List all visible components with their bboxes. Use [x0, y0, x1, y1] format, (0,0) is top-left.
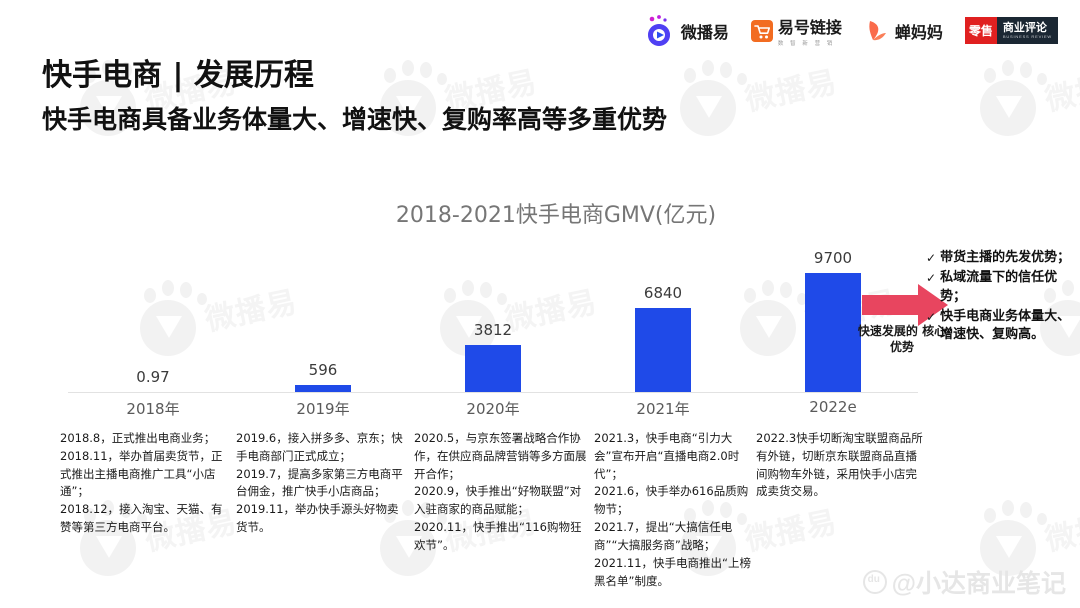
- chanmama-mark-icon: [864, 18, 890, 44]
- yihaolianjie-logo-sub: 数 智 新 营 销: [778, 39, 835, 47]
- timeline-note-columns: 2018.8，正式推出电商业务； 2018.11，举办首届卖货节，正式推出主播电…: [0, 430, 1080, 600]
- chanmama-logo: 蝉妈妈: [864, 18, 943, 44]
- weiboyi-paw-icon: [680, 60, 754, 134]
- x-axis-tick-label: 2022e: [748, 398, 918, 422]
- weiboyi-watermark: 微播易: [980, 60, 1054, 134]
- weiboyi-watermark: 微播易: [680, 60, 754, 134]
- x-axis-tick-label: 2021年: [578, 398, 748, 422]
- x-axis-labels: 2018年2019年2020年2021年2022e: [68, 398, 918, 422]
- bar: [295, 385, 351, 392]
- advantage-bullet-item: ✓带货主播的先发优势；: [926, 249, 1074, 268]
- timeline-note: 2018.8，正式推出电商业务； 2018.11，举办首届卖货节，正式推出主播电…: [60, 430, 232, 537]
- advantage-bullet-item: ✓私域流量下的信任优势；: [926, 269, 1074, 307]
- chart-title: 2018-2021快手电商GMV(亿元): [0, 197, 1080, 229]
- timeline-note: 2019.6，接入拼多多、京东；快手电商部门正式成立； 2019.7，提高多家第…: [236, 430, 408, 537]
- x-axis-tick-label: 2018年: [68, 398, 238, 422]
- yihaolianjie-logo-text: 易号链接: [778, 14, 842, 38]
- bar-value-label: 9700: [814, 249, 852, 267]
- bar-group: 3812: [408, 235, 578, 392]
- bar-group: 6840: [578, 235, 748, 392]
- check-icon: ✓: [926, 249, 936, 267]
- x-axis-tick-label: 2019年: [238, 398, 408, 422]
- timeline-note: 2020.5，与京东签署战略合作协作，在供应商品牌营销等多方面展开合作； 202…: [414, 430, 590, 555]
- timeline-note: 2021.3，快手电商“引力大会”宣布开启“直播电商2.0时代”； 2021.6…: [594, 430, 758, 590]
- advantage-bullet-text: 私域流量下的信任优势；: [940, 269, 1074, 307]
- bar-value-label: 6840: [644, 284, 682, 302]
- bar-value-label: 3812: [474, 321, 512, 339]
- yihaolianjie-logo: 易号链接 数 智 新 营 销: [751, 14, 842, 47]
- weiboyi-logo-text: 微播易: [681, 19, 729, 43]
- bar-group: 596: [238, 235, 408, 392]
- partner-logo-strip: 微播易 易号链接 数 智 新 营 销 蝉妈妈: [646, 14, 1058, 47]
- bar: [635, 308, 691, 392]
- chanmama-logo-text: 蝉妈妈: [895, 19, 943, 43]
- bar: [465, 345, 521, 392]
- shangye-pinglun-logo-text: 商业评论: [1003, 22, 1052, 34]
- page-title: 快手电商 | 发展历程: [42, 50, 314, 94]
- timeline-note: 2022.3快手切断淘宝联盟商品所有外链，切断京东联盟商品直播间购物车外链，采用…: [756, 430, 924, 501]
- page-subtitle: 快手电商具备业务体量大、增速快、复购率高等多重优势: [42, 100, 667, 136]
- x-axis-tick-label: 2020年: [408, 398, 578, 422]
- bar-chart-plot-area: 0.97596381268409700: [68, 236, 918, 393]
- lingshou-logo-text: 零售: [965, 17, 997, 44]
- slide-canvas: 微播易微播易微播易微播易微播易微播易微播易微播易微播易微播易微播易微播易 微播易: [0, 0, 1080, 608]
- weiboyi-play-icon: [646, 15, 676, 47]
- bar: [805, 273, 861, 392]
- weiboyi-watermark-text: 微播易: [740, 57, 840, 119]
- advantage-bullet-list: ✓带货主播的先发优势；✓私域流量下的信任优势；✓快手电商业务体量大、增速快、复购…: [926, 249, 1074, 346]
- weiboyi-paw-icon: [980, 60, 1054, 134]
- bar-group: 0.97: [68, 235, 238, 392]
- lingshou-shangye-pinglun-logo: 零售 商业评论 BUSINESS REVIEW: [965, 17, 1058, 44]
- x-axis-line: [68, 392, 918, 393]
- weiboyi-logo: 微播易: [646, 15, 729, 47]
- advantage-bullet-text: 快手电商业务体量大、增速快、复购高。: [940, 308, 1074, 346]
- bar-value-label: 0.97: [136, 368, 169, 386]
- shangye-pinglun-logo-sub: BUSINESS REVIEW: [1003, 34, 1052, 39]
- advantage-bullet-text: 带货主播的先发优势；: [940, 249, 1070, 268]
- yihaolianjie-cart-icon: [751, 20, 773, 42]
- advantage-bullet-item: ✓快手电商业务体量大、增速快、复购高。: [926, 308, 1074, 346]
- check-icon: ✓: [926, 269, 936, 287]
- bar-value-label: 596: [309, 361, 338, 379]
- weiboyi-watermark-text: 微播易: [1040, 57, 1080, 119]
- check-icon: ✓: [926, 308, 936, 326]
